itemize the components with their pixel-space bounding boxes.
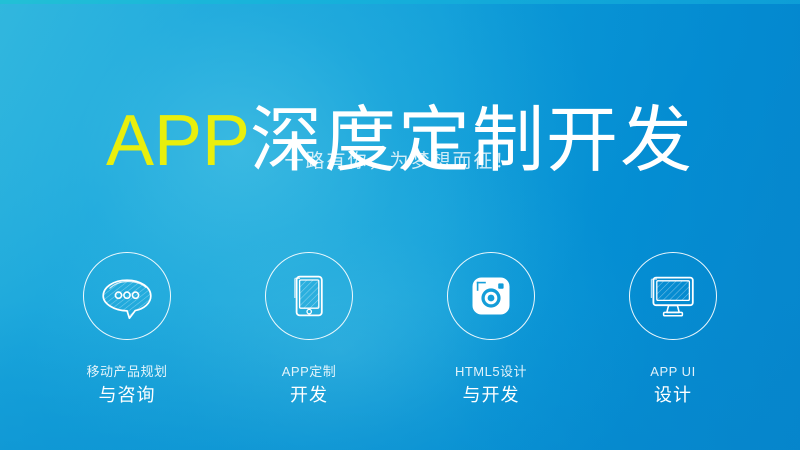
feature-icon-ring [447, 252, 535, 340]
feature-item-app-ui[interactable]: APP UI 设计 [582, 252, 764, 407]
feature-icon-ring [265, 252, 353, 340]
feature-label: APP UI 设计 [650, 364, 695, 407]
camera-icon [460, 265, 522, 327]
feature-icon-ring [629, 252, 717, 340]
speech-bubble-icon [96, 265, 158, 327]
feature-label-bottom: 与开发 [455, 384, 527, 407]
feature-label-top: APP UI [650, 364, 695, 380]
feature-label-top: HTML5设计 [455, 364, 527, 380]
feature-item-html5[interactable]: HTML5设计 与开发 [400, 252, 582, 407]
feature-item-app-development[interactable]: APP定制 开发 [218, 252, 400, 407]
background-top-strip [0, 0, 800, 4]
promo-banner: APP深度定制开发 一路有你，为梦想而征！ [0, 0, 800, 450]
monitor-icon [642, 265, 704, 327]
feature-list: 移动产品规划 与咨询 [0, 252, 800, 407]
feature-item-consulting[interactable]: 移动产品规划 与咨询 [36, 252, 218, 407]
feature-label: HTML5设计 与开发 [455, 364, 527, 407]
feature-label-bottom: 开发 [282, 384, 337, 407]
tablet-icon [278, 265, 340, 327]
feature-label-bottom: 设计 [650, 384, 695, 407]
feature-label: APP定制 开发 [282, 364, 337, 407]
feature-label-bottom: 与咨询 [86, 384, 167, 407]
feature-icon-ring [83, 252, 171, 340]
feature-label-top: 移动产品规划 [86, 364, 167, 380]
feature-label: 移动产品规划 与咨询 [86, 364, 167, 407]
page-subtitle: 一路有你，为梦想而征！ [0, 148, 800, 176]
feature-label-top: APP定制 [282, 364, 337, 380]
